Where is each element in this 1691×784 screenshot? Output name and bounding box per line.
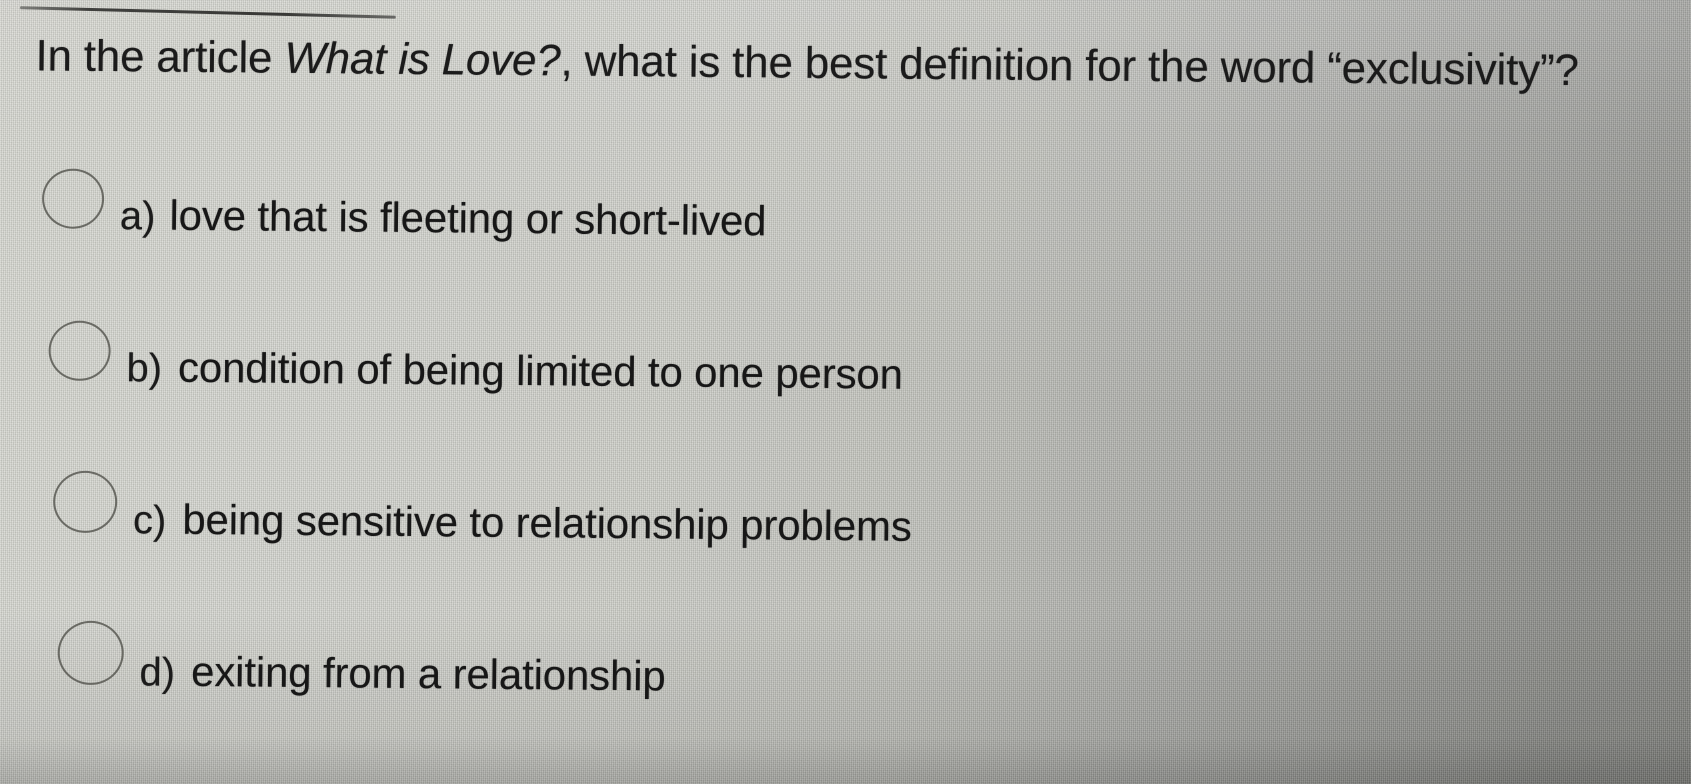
question-prompt: In the article What is Love?, what is th… [35,30,1665,98]
answer-option-a[interactable]: a) love that is fleeting or short-lived [42,168,767,245]
option-letter-a: a) [120,194,156,239]
option-text-d: exiting from a relationship [191,648,666,701]
question-content-plane: In the article What is Love?, what is th… [0,0,1691,784]
option-letter-b: b) [126,346,162,391]
radio-button-b[interactable] [48,320,111,381]
article-title: What is Love? [284,34,561,86]
answer-option-c[interactable]: c) being sensitive to relationship probl… [53,471,912,551]
option-letter-d: d) [139,650,175,695]
question-prefix: In the article [35,31,284,82]
radio-button-a[interactable] [42,168,105,229]
radio-button-d[interactable] [57,621,124,686]
option-text-b: condition of being limited to one person [178,344,903,399]
top-divider-rule [20,6,396,19]
option-letter-c: c) [133,498,167,543]
option-text-a: love that is fleeting or short-lived [169,192,766,246]
radio-button-c[interactable] [53,471,118,534]
answer-option-b[interactable]: b) condition of being limited to one per… [48,320,903,398]
question-suffix: , what is the best definition for the wo… [560,36,1579,95]
option-text-c: being sensitive to relationship problems [182,496,912,551]
quiz-screen-photo: In the article What is Love?, what is th… [0,0,1691,784]
answer-option-d[interactable]: d) exiting from a relationship [57,621,666,701]
